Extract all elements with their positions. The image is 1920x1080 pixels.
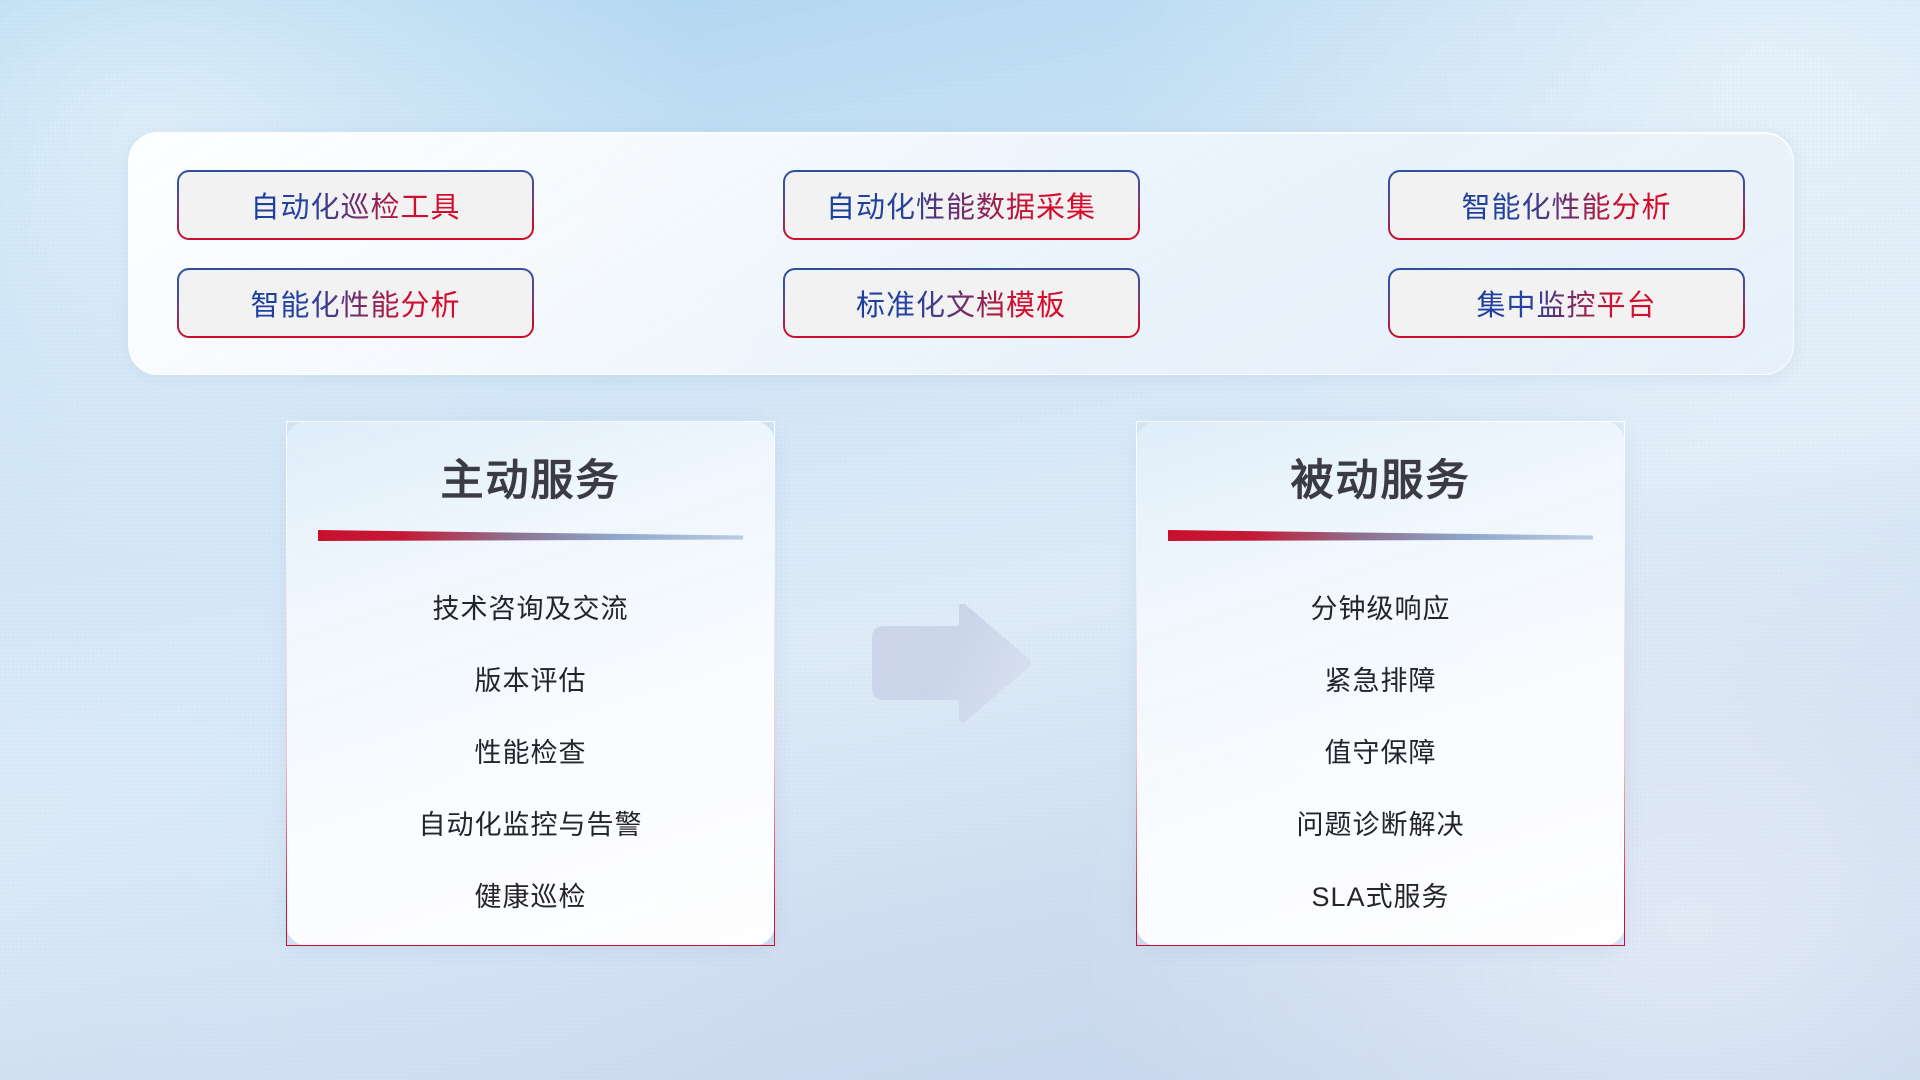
- list-item: 性能检查: [315, 717, 746, 789]
- capability-pill-automated-performance-data-collection[interactable]: 自动化性能数据采集: [783, 170, 1140, 240]
- capability-pill-label: 标准化文档模板: [856, 282, 1066, 324]
- capability-pill-label: 智能化性能分析: [250, 282, 460, 324]
- list-item: 分钟级响应: [1165, 573, 1596, 645]
- capability-pill-standardized-document-template[interactable]: 标准化文档模板: [783, 268, 1140, 338]
- list-item: 技术咨询及交流: [315, 573, 746, 645]
- capability-pill-intelligent-performance-analysis-2[interactable]: 智能化性能分析: [177, 268, 534, 338]
- capability-pill-label: 自动化巡检工具: [250, 184, 460, 226]
- list-item: 自动化监控与告警: [315, 789, 746, 861]
- service-item-list: 技术咨询及交流 版本评估 性能检查 自动化监控与告警 健康巡检: [315, 573, 746, 933]
- card-divider-gradient-bar: [318, 530, 743, 543]
- capability-panel: 自动化巡检工具 自动化性能数据采集 智能化性能分析 智能化性能分析 标准化文档模…: [128, 132, 1794, 375]
- capability-pill-label: 自动化性能数据采集: [826, 184, 1096, 226]
- service-card-active: 主动服务 技术咨询及交流 版本评估 性能检查 自动化监控与告警 健康巡检: [286, 421, 775, 946]
- list-item: 值守保障: [1165, 717, 1596, 789]
- service-card-title: 主动服务: [441, 456, 621, 508]
- capability-row-1: 自动化巡检工具 自动化性能数据采集 智能化性能分析: [177, 170, 1745, 240]
- list-item: 健康巡检: [315, 861, 746, 933]
- list-item: 紧急排障: [1165, 645, 1596, 717]
- list-item: 问题诊断解决: [1165, 789, 1596, 861]
- capability-pill-intelligent-performance-analysis-1[interactable]: 智能化性能分析: [1388, 170, 1745, 240]
- capability-pill-automated-inspection-tool[interactable]: 自动化巡检工具: [177, 170, 534, 240]
- service-card-passive: 被动服务 分钟级响应 紧急排障 值守保障 问题诊断解决 SLA式服务: [1136, 421, 1625, 946]
- card-divider-gradient-bar: [1168, 530, 1593, 543]
- list-item: SLA式服务: [1165, 861, 1596, 933]
- capability-pill-centralized-monitoring-platform[interactable]: 集中监控平台: [1388, 268, 1745, 338]
- list-item: 版本评估: [315, 645, 746, 717]
- capability-pill-label: 集中监控平台: [1476, 282, 1656, 324]
- service-card-title: 被动服务: [1291, 456, 1471, 508]
- capability-pill-label: 智能化性能分析: [1461, 184, 1671, 226]
- service-item-list: 分钟级响应 紧急排障 值守保障 问题诊断解决 SLA式服务: [1165, 573, 1596, 933]
- capability-row-2: 智能化性能分析 标准化文档模板 集中监控平台: [177, 268, 1745, 338]
- arrow-right-icon: [866, 604, 1036, 724]
